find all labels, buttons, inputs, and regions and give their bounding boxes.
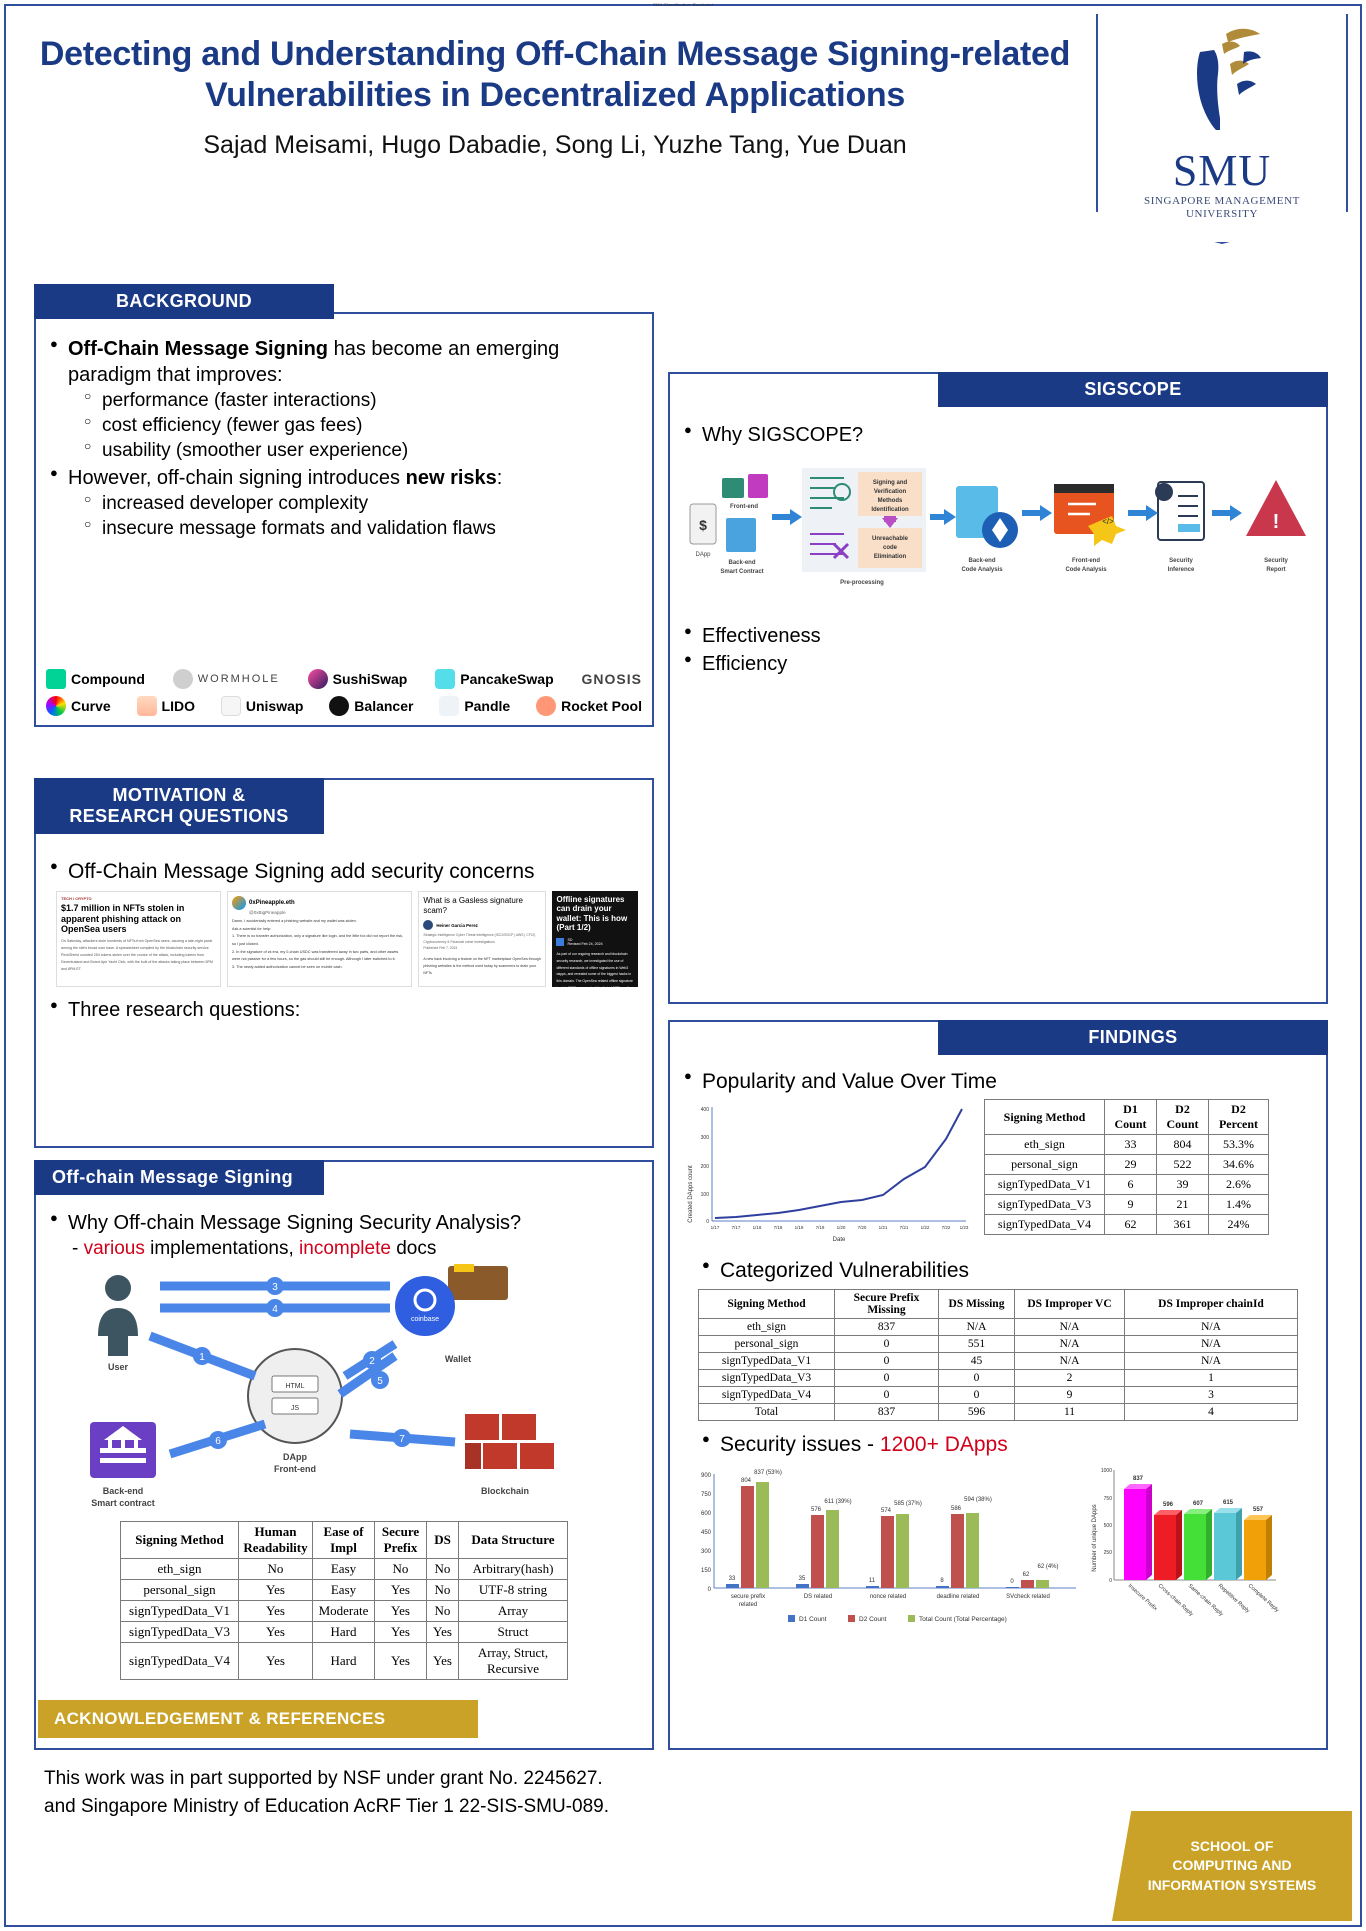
findings-bullet-popularity-wrap: Popularity and Value Over Time — [684, 1068, 1312, 1095]
cell: signTypedData_V3 — [699, 1369, 835, 1386]
svg-text:250: 250 — [1104, 1550, 1113, 1556]
protocol-logo-strip: Compound WORMHOLE SushiSwap PancakeSwap … — [36, 665, 652, 719]
table-row: eth_signNoEasyNoNoArbitrary(hash) — [121, 1559, 568, 1580]
cell: 596 — [939, 1403, 1015, 1420]
svg-text:coinbase: coinbase — [411, 1316, 439, 1323]
protocol-logo-row-1: Compound WORMHOLE SushiSwap PancakeSwap … — [46, 665, 642, 692]
svg-text:300: 300 — [701, 1549, 712, 1555]
cell: 551 — [939, 1335, 1015, 1352]
svg-text:Inference: Inference — [1168, 567, 1195, 573]
news-clipping-tweet: 0xPineapple.eth @0xBigPineapple Damn, I … — [227, 891, 412, 987]
cell: No — [427, 1559, 459, 1580]
protocol-label-lido: LIDO — [162, 698, 195, 714]
tweet-handle-2: @0xBigPineapple — [249, 910, 407, 915]
cell: Easy — [313, 1580, 375, 1601]
cell: 1.4% — [1209, 1195, 1269, 1215]
findings-bullet-security-wrap: Security issues - 1200+ DApps — [684, 1431, 1312, 1458]
research-questions-list: Three research questions: — [50, 997, 638, 1023]
tweet-body: Damn, I accidentally entered a phishing … — [232, 918, 407, 971]
vulnerability-table: Signing Method Secure Prefix Missing DS … — [698, 1289, 1298, 1421]
motivation-heading: MOTIVATION & RESEARCH QUESTIONS — [34, 778, 324, 834]
motivation-heading-l1: MOTIVATION & — [112, 785, 245, 805]
protocol-logo-rocketpool: Rocket Pool — [536, 696, 642, 716]
byline-avatar — [423, 920, 433, 930]
svg-text:User: User — [108, 1362, 129, 1372]
svg-text:450: 450 — [701, 1530, 712, 1536]
cell: signTypedData_V4 — [699, 1386, 835, 1403]
cell: 45 — [939, 1352, 1015, 1369]
pandle-icon — [439, 696, 459, 716]
cell: Yes — [375, 1601, 427, 1622]
chart2-group-secure-prefix: 33 804 837 (53%) — [726, 1470, 782, 1588]
cell: 3 — [1125, 1386, 1298, 1403]
protocol-label-sushiswap: SushiSwap — [333, 671, 408, 687]
background-sub-2-1: insecure message formats and validation … — [84, 516, 638, 541]
chart2-legend: D1 Count D2 Count Total Count (Total Per… — [788, 1615, 1007, 1623]
cell: N/A — [1015, 1318, 1125, 1335]
cell: signTypedData_V4 — [121, 1643, 239, 1680]
table-row: eth_sign837N/AN/AN/A — [699, 1318, 1298, 1335]
popularity-row: Created DApps count 4003002001000 1/177/… — [684, 1099, 1312, 1249]
svg-text:750: 750 — [1104, 1496, 1113, 1502]
school-badge-text: SCHOOL OF COMPUTING AND INFORMATION SYST… — [1148, 1837, 1317, 1896]
cell: 361 — [1157, 1215, 1209, 1235]
cell: 2.6% — [1209, 1175, 1269, 1195]
findings-bullet-vuln: Categorized Vulnerabilities — [702, 1257, 1312, 1284]
pipeline-dapp-label: DApp — [695, 552, 711, 558]
chart2-group-ds-related: 35 576 611 (39%) — [796, 1499, 852, 1588]
ack-line-1: This work was in part supported by NSF u… — [44, 1765, 609, 1793]
security-issues-bar-chart: 900750600 4503001500 33 804 837 (53%) — [684, 1460, 1082, 1626]
cell: N/A — [1125, 1318, 1298, 1335]
svg-text:Identification: Identification — [871, 507, 909, 513]
cell: 0 — [939, 1386, 1015, 1403]
svg-text:900: 900 — [701, 1473, 712, 1479]
cell: signTypedData_V3 — [121, 1622, 239, 1643]
table-row: signTypedData_V4YesHardYesYesArray, Stru… — [121, 1643, 568, 1680]
smu-tagline: SINGAPORE MANAGEMENT UNIVERSITY — [1096, 195, 1348, 223]
offchain-bullet-1: Why Off-chain Message Signing Security A… — [50, 1210, 638, 1236]
svg-text:Blockchain: Blockchain — [481, 1486, 529, 1496]
cell: N/A — [1015, 1335, 1125, 1352]
cell: personal_sign — [121, 1580, 239, 1601]
svg-text:594 (38%): 594 (38%) — [964, 1497, 992, 1503]
chart2-xticks: secure prefixrelated DS related nonce re… — [731, 1594, 1050, 1608]
col-ds-improper-chainid: DS Improper chainId — [1125, 1289, 1298, 1318]
svg-text:11: 11 — [869, 1578, 876, 1584]
offline-body: As part of our ongoing research and bloc… — [556, 951, 634, 987]
table-row: signTypedData_V40093 — [699, 1386, 1298, 1403]
protocol-label-wormhole: WORMHOLE — [198, 673, 280, 685]
background-sub-2-0: increased developer complexity — [84, 491, 638, 516]
svg-text:150: 150 — [701, 1568, 712, 1574]
cell: No — [375, 1559, 427, 1580]
svg-text:0: 0 — [708, 1587, 712, 1593]
cell: Array — [459, 1601, 568, 1622]
pipeline-frontend-analysis: </> Front-end Code Analysis — [1054, 484, 1126, 573]
svg-text:</>: </> — [1102, 517, 1114, 526]
protocol-logo-compound: Compound — [46, 669, 145, 689]
motivation-panel: MOTIVATION & RESEARCH QUESTIONS Off-Chai… — [34, 778, 654, 1148]
popularity-line-chart: Created DApps count 4003002001000 1/177/… — [684, 1099, 974, 1249]
chart2-yticks: 900750600 4503001500 — [701, 1473, 712, 1593]
protocol-logo-wormhole: WORMHOLE — [173, 669, 280, 689]
offchain-sub-post: docs — [391, 1238, 436, 1259]
background-bullet-1: Off-Chain Message Signing has become an … — [50, 336, 638, 463]
svg-text:8: 8 — [940, 1578, 944, 1584]
background-sublist-2: increased developer complexity insecure … — [84, 491, 638, 541]
cell: eth_sign — [699, 1318, 835, 1335]
motivation-heading-l2: RESEARCH QUESTIONS — [69, 806, 288, 826]
cell: personal_sign — [699, 1335, 835, 1352]
rocketpool-icon — [536, 696, 556, 716]
svg-text:804: 804 — [741, 1478, 752, 1484]
protocol-logo-gnosis: GNOSIS — [582, 671, 642, 687]
svg-text:Pre-processing: Pre-processing — [840, 580, 884, 586]
cell: personal_sign — [985, 1155, 1105, 1175]
background-sub-1-0: performance (faster interactions) — [84, 388, 638, 413]
chart1-ylabel: Created DApps count — [688, 1165, 694, 1223]
chart1-xticks: 1/177/171/187/18 1/197/191/207/20 1/217/… — [711, 1225, 969, 1230]
ack-line-2: and Singapore Ministry of Education AcRF… — [44, 1793, 609, 1821]
svg-text:600: 600 — [701, 1511, 712, 1517]
pipeline-security-inference: Security Inference — [1155, 482, 1204, 573]
col-d1-count: D1 Count — [1105, 1100, 1157, 1135]
svg-text:62: 62 — [1023, 1572, 1030, 1578]
user-node: User — [98, 1275, 138, 1372]
col-ds-improper-vc: DS Improper VC — [1015, 1289, 1125, 1318]
sigscope-panel: SIGSCOPE Why SIGSCOPE? $ DApp Front-end … — [668, 372, 1328, 1004]
protocol-logo-pandle: Pandle — [439, 696, 510, 716]
offchain-sub-mid: implementations, — [145, 1238, 299, 1259]
col-ds-missing: DS Missing — [939, 1289, 1015, 1318]
sigscope-results: Effectiveness Efficiency — [684, 623, 1312, 677]
cell: 33 — [1105, 1135, 1157, 1155]
byline-row: Heiner Garcia Perez — [423, 920, 541, 930]
col-signing-method: Signing Method — [985, 1100, 1105, 1135]
cell: Yes — [239, 1643, 313, 1680]
sigscope-bullets: Why SIGSCOPE? — [684, 422, 1312, 448]
cell: Arbitrary(hash) — [459, 1559, 568, 1580]
svg-text:574: 574 — [881, 1508, 892, 1514]
cell: Array, Struct, Recursive — [459, 1643, 568, 1680]
smu-crest-icon — [1096, 22, 1348, 152]
cell: 804 — [1157, 1135, 1209, 1155]
svg-text:33: 33 — [729, 1576, 736, 1582]
protocol-logo-row-2: Curve LIDO Uniswap Balancer Pandle Rocke… — [46, 692, 642, 719]
cell: No — [427, 1580, 459, 1601]
table-row: signTypedData_V1045N/AN/A — [699, 1352, 1298, 1369]
svg-text:Smart Contract: Smart Contract — [720, 569, 763, 575]
cell: 24% — [1209, 1215, 1269, 1235]
protocol-label-rocketpool: Rocket Pool — [561, 698, 642, 714]
cell: N/A — [1125, 1352, 1298, 1369]
svg-text:Smart contract: Smart contract — [91, 1498, 155, 1508]
cell: 0 — [835, 1352, 939, 1369]
cell: 0 — [835, 1386, 939, 1403]
compound-icon — [46, 669, 66, 689]
svg-text:607: 607 — [1193, 1501, 1204, 1507]
svg-text:0: 0 — [1109, 1578, 1112, 1584]
offchain-sub-pre: - — [72, 1238, 84, 1259]
svg-text:Back-end: Back-end — [103, 1486, 144, 1496]
background-sub-1-2: usability (smoother user experience) — [84, 438, 638, 463]
svg-text:586: 586 — [951, 1506, 962, 1512]
table-row-total: Total837596114 — [699, 1403, 1298, 1420]
svg-text:557: 557 — [1253, 1507, 1264, 1513]
svg-text:100: 100 — [701, 1192, 710, 1198]
wallet-node: coinbase Wallet — [395, 1264, 508, 1364]
background-bullet-2: However, off-chain signing introduces ne… — [50, 465, 638, 541]
svg-text:3: 3 — [272, 1282, 278, 1293]
signing-method-table: Signing Method Human Readability Ease of… — [120, 1521, 568, 1680]
title-block: Detecting and Understanding Off-Chain Me… — [30, 34, 1080, 160]
col-signing-method: Signing Method — [121, 1522, 239, 1559]
chart2-group-deadline-related: 8 586 594 (38%) — [936, 1497, 992, 1588]
cell: Yes — [239, 1580, 313, 1601]
svg-text:2: 2 — [369, 1356, 375, 1367]
cell: 2 — [1015, 1369, 1125, 1386]
effectiveness-bullet: Effectiveness — [684, 623, 1312, 649]
security-charts-row: 900750600 4503001500 33 804 837 (53%) — [684, 1460, 1312, 1626]
svg-text:596: 596 — [1163, 1502, 1174, 1508]
chart1-xlabel: Date — [833, 1237, 846, 1243]
svg-text:deadline related: deadline related — [937, 1594, 980, 1600]
svg-text:1000: 1000 — [1101, 1468, 1112, 1474]
svg-text:1: 1 — [199, 1352, 205, 1363]
svg-text:Methods: Methods — [878, 498, 903, 504]
news-body-3: A new hack involving a feature on the NF… — [423, 956, 541, 976]
cell: 21 — [1157, 1195, 1209, 1215]
chart3-xticks: Insecure Prefix Cross-chain Reply Same-c… — [1127, 1583, 1280, 1618]
findings-bullet-security: Security issues - 1200+ DApps — [702, 1431, 1312, 1458]
svg-text:6: 6 — [215, 1436, 221, 1447]
byline-meta: Strategic Intelligence Cyber Threat Inte… — [423, 932, 541, 951]
news-body-1: On Saturday, attackers stole hundreds of… — [61, 938, 216, 972]
background-bullet-2-pre: However, off-chain signing introduces — [68, 467, 406, 489]
background-heading: BACKGROUND — [34, 284, 334, 319]
cell: 9 — [1015, 1386, 1125, 1403]
uniswap-icon — [221, 696, 241, 716]
cell: 837 — [835, 1403, 939, 1420]
cell: No — [239, 1559, 313, 1580]
table-row: personal_sign2952234.6% — [985, 1155, 1269, 1175]
smu-wordmark: SMU — [1096, 145, 1348, 196]
protocol-label-balancer: Balancer — [354, 698, 413, 714]
svg-text:SVcheck related: SVcheck related — [1006, 1594, 1050, 1600]
col-data-structure: Data Structure — [459, 1522, 568, 1559]
table-header-row: Signing Method Human Readability Ease of… — [121, 1522, 568, 1559]
col-secure-prefix-missing: Secure Prefix Missing — [835, 1289, 939, 1318]
svg-text:1/19: 1/19 — [795, 1225, 804, 1230]
table-row: signTypedData_V30021 — [699, 1369, 1298, 1386]
cell: eth_sign — [985, 1135, 1105, 1155]
cell: Yes — [427, 1622, 459, 1643]
svg-text:Back-end: Back-end — [728, 560, 755, 566]
svg-text:35: 35 — [799, 1576, 806, 1582]
dapp-frontend-node: HTML JS DApp Front-end — [248, 1349, 342, 1474]
svg-text:7: 7 — [399, 1434, 405, 1445]
svg-text:DApp: DApp — [283, 1452, 307, 1462]
chart1-series-line — [715, 1109, 962, 1218]
svg-text:837: 837 — [1133, 1476, 1144, 1482]
research-questions-bullet: Three research questions: — [50, 997, 638, 1023]
background-bullet-2-post: : — [497, 467, 503, 489]
backend-contract-node: Back-end Smart contract — [90, 1422, 156, 1508]
cell: 1 — [1125, 1369, 1298, 1386]
svg-text:D2 Count: D2 Count — [859, 1616, 887, 1623]
svg-text:7/21: 7/21 — [900, 1225, 909, 1230]
cell: Total — [699, 1403, 835, 1420]
news-headline-1: $1.7 million in NFTs stolen in apparent … — [61, 903, 216, 934]
table-header-row: Signing Method Secure Prefix Missing DS … — [699, 1289, 1298, 1318]
motivation-bullet-1: Off-Chain Message Signing add security c… — [50, 858, 638, 885]
protocol-logo-balancer: Balancer — [329, 696, 413, 716]
svg-text:D1 Count: D1 Count — [799, 1616, 827, 1623]
cell: 39 — [1157, 1175, 1209, 1195]
cell: signTypedData_V4 — [985, 1215, 1105, 1235]
chart3-bar-complete: 557 — [1244, 1507, 1272, 1580]
lido-icon — [137, 696, 157, 716]
svg-text:Front-end: Front-end — [274, 1464, 316, 1474]
svg-text:secure prefix: secure prefix — [731, 1594, 765, 1600]
svg-text:1/18: 1/18 — [753, 1225, 762, 1230]
page-title: Detecting and Understanding Off-Chain Me… — [30, 34, 1080, 117]
protocol-label-curve: Curve — [71, 698, 111, 714]
cell: 53.3% — [1209, 1135, 1269, 1155]
cell: Yes — [375, 1580, 427, 1601]
table-header-row: Signing Method D1 Count D2 Count D2 Perc… — [985, 1100, 1269, 1135]
blockchain-node: Blockchain — [465, 1414, 554, 1496]
svg-text:200: 200 — [701, 1164, 710, 1170]
cell: Struct — [459, 1622, 568, 1643]
pipeline-preprocessing: Signing and Verification Methods Identif… — [802, 468, 926, 586]
table-row: signTypedData_V1YesModerateYesNoArray — [121, 1601, 568, 1622]
svg-text:Insecure Prefix: Insecure Prefix — [1127, 1583, 1158, 1612]
table-row: signTypedData_V3YesHardYesYesStruct — [121, 1622, 568, 1643]
svg-text:576: 576 — [811, 1507, 822, 1513]
sushiswap-icon — [308, 669, 328, 689]
col-ease-impl: Ease of Impl — [313, 1522, 375, 1559]
protocol-logo-lido: LIDO — [137, 696, 195, 716]
col-human-readability: Human Readability — [239, 1522, 313, 1559]
table-row: personal_sign0551N/AN/A — [699, 1335, 1298, 1352]
svg-text:code: code — [883, 545, 898, 551]
protocol-label-pandle: Pandle — [464, 698, 510, 714]
cell: Yes — [239, 1601, 313, 1622]
background-panel: BACKGROUND Off-Chain Message Signing has… — [34, 312, 654, 727]
security-issues-pre: Security issues - — [720, 1433, 880, 1456]
background-bullet-2-bold: new risks — [406, 467, 497, 489]
svg-text:0: 0 — [1010, 1579, 1014, 1585]
cell: 4 — [1125, 1403, 1298, 1420]
svg-text:JS: JS — [291, 1405, 300, 1412]
col-ds: DS — [427, 1522, 459, 1559]
news-clipping-gasless: What is a Gasless signature scam? Heiner… — [418, 891, 546, 987]
cell: 11 — [1015, 1403, 1125, 1420]
svg-text:Wallet: Wallet — [445, 1354, 471, 1364]
svg-text:DS related: DS related — [804, 1594, 832, 1600]
cell: signTypedData_V1 — [121, 1601, 239, 1622]
cell: 0 — [835, 1369, 939, 1386]
offchain-sub-red2: incomplete — [299, 1238, 391, 1259]
author-list: Sajad Meisami, Hugo Dabadie, Song Li, Yu… — [30, 131, 1080, 160]
wormhole-icon — [173, 669, 193, 689]
smu-tagline-l2: UNIVERSITY — [1186, 208, 1258, 220]
findings-bullet-vuln-wrap: Categorized Vulnerabilities — [684, 1257, 1312, 1284]
acknowledgement-heading: ACKNOWLEDGEMENT & REFERENCES — [38, 1700, 478, 1738]
balancer-icon — [329, 696, 349, 716]
svg-text:1/20: 1/20 — [837, 1225, 846, 1230]
cell: UTF-8 string — [459, 1580, 568, 1601]
protocol-logo-sushiswap: SushiSwap — [308, 669, 408, 689]
cell: eth_sign — [121, 1559, 239, 1580]
chart2-group-nonce-related: 11 574 585 (37%) — [866, 1501, 922, 1588]
svg-text:0: 0 — [706, 1219, 709, 1225]
cell: N/A — [1125, 1335, 1298, 1352]
svg-text:5: 5 — [377, 1376, 383, 1387]
cell: 0 — [939, 1369, 1015, 1386]
cell: 6 — [1105, 1175, 1157, 1195]
svg-text:nonce related: nonce related — [870, 1594, 906, 1600]
cell: Yes — [375, 1622, 427, 1643]
news-kicker: TECH / CRYPTO — [61, 896, 216, 901]
cell: 522 — [1157, 1155, 1209, 1175]
curve-icon — [46, 696, 66, 716]
svg-text:Code Analysis: Code Analysis — [961, 567, 1003, 573]
cell: signTypedData_V3 — [985, 1195, 1105, 1215]
protocol-logo-curve: Curve — [46, 696, 111, 716]
chart3-bar-same-chain: 607 — [1184, 1501, 1212, 1580]
svg-text:$: $ — [699, 517, 707, 533]
svg-text:400: 400 — [701, 1107, 710, 1113]
svg-text:585 (37%): 585 (37%) — [894, 1501, 922, 1507]
news-clipping-row: TECH / CRYPTO $1.7 million in NFTs stole… — [56, 891, 638, 987]
cell: No — [427, 1601, 459, 1622]
background-sub-1-1: cost efficiency (fewer gas fees) — [84, 413, 638, 438]
offchain-panel: Off-chain Message Signing Why Off-chain … — [34, 1160, 654, 1750]
cell: Easy — [313, 1559, 375, 1580]
efficiency-bullet: Efficiency — [684, 651, 1312, 677]
cell: Yes — [375, 1643, 427, 1680]
svg-text:related: related — [739, 1602, 757, 1608]
chart3-yticks: 10007505002500 — [1101, 1468, 1112, 1584]
offchain-heading: Off-chain Message Signing — [34, 1160, 324, 1195]
table-row: eth_sign3380453.3% — [985, 1135, 1269, 1155]
svg-text:HTML: HTML — [285, 1383, 304, 1390]
cell: signTypedData_V1 — [699, 1352, 835, 1369]
news-headline-4: Offline signatures can drain your wallet… — [556, 895, 634, 932]
counts-table: Signing Method D1 Count D2 Count D2 Perc… — [984, 1099, 1269, 1235]
svg-text:Front-end: Front-end — [1072, 558, 1100, 564]
svg-text:Security: Security — [1169, 558, 1193, 564]
pancakeswap-icon — [435, 669, 455, 689]
col-d2-percent: D2 Percent — [1209, 1100, 1269, 1135]
offchain-subline: - various implementations, incomplete do… — [72, 1238, 638, 1260]
pipeline-frontend-label: Front-end — [730, 504, 758, 510]
svg-text:7/22: 7/22 — [942, 1225, 951, 1230]
svg-text:611 (39%): 611 (39%) — [824, 1499, 851, 1505]
svg-text:4: 4 — [272, 1304, 278, 1315]
pipeline-backend-analysis: Back-end Code Analysis — [956, 486, 1018, 573]
chart2-group-svcheck-related: 0 62 62 (4%) — [1006, 1564, 1059, 1588]
cell: 29 — [1105, 1155, 1157, 1175]
cell: Moderate — [313, 1601, 375, 1622]
school-badge: SCHOOL OF COMPUTING AND INFORMATION SYST… — [1112, 1811, 1352, 1921]
unique-dapps-bar-chart: Number of unique DApps 10007505002500 83… — [1086, 1460, 1286, 1626]
smu-logo: SMU SINGAPORE MANAGEMENT UNIVERSITY — [1096, 14, 1348, 244]
protocol-label-compound: Compound — [71, 671, 145, 687]
